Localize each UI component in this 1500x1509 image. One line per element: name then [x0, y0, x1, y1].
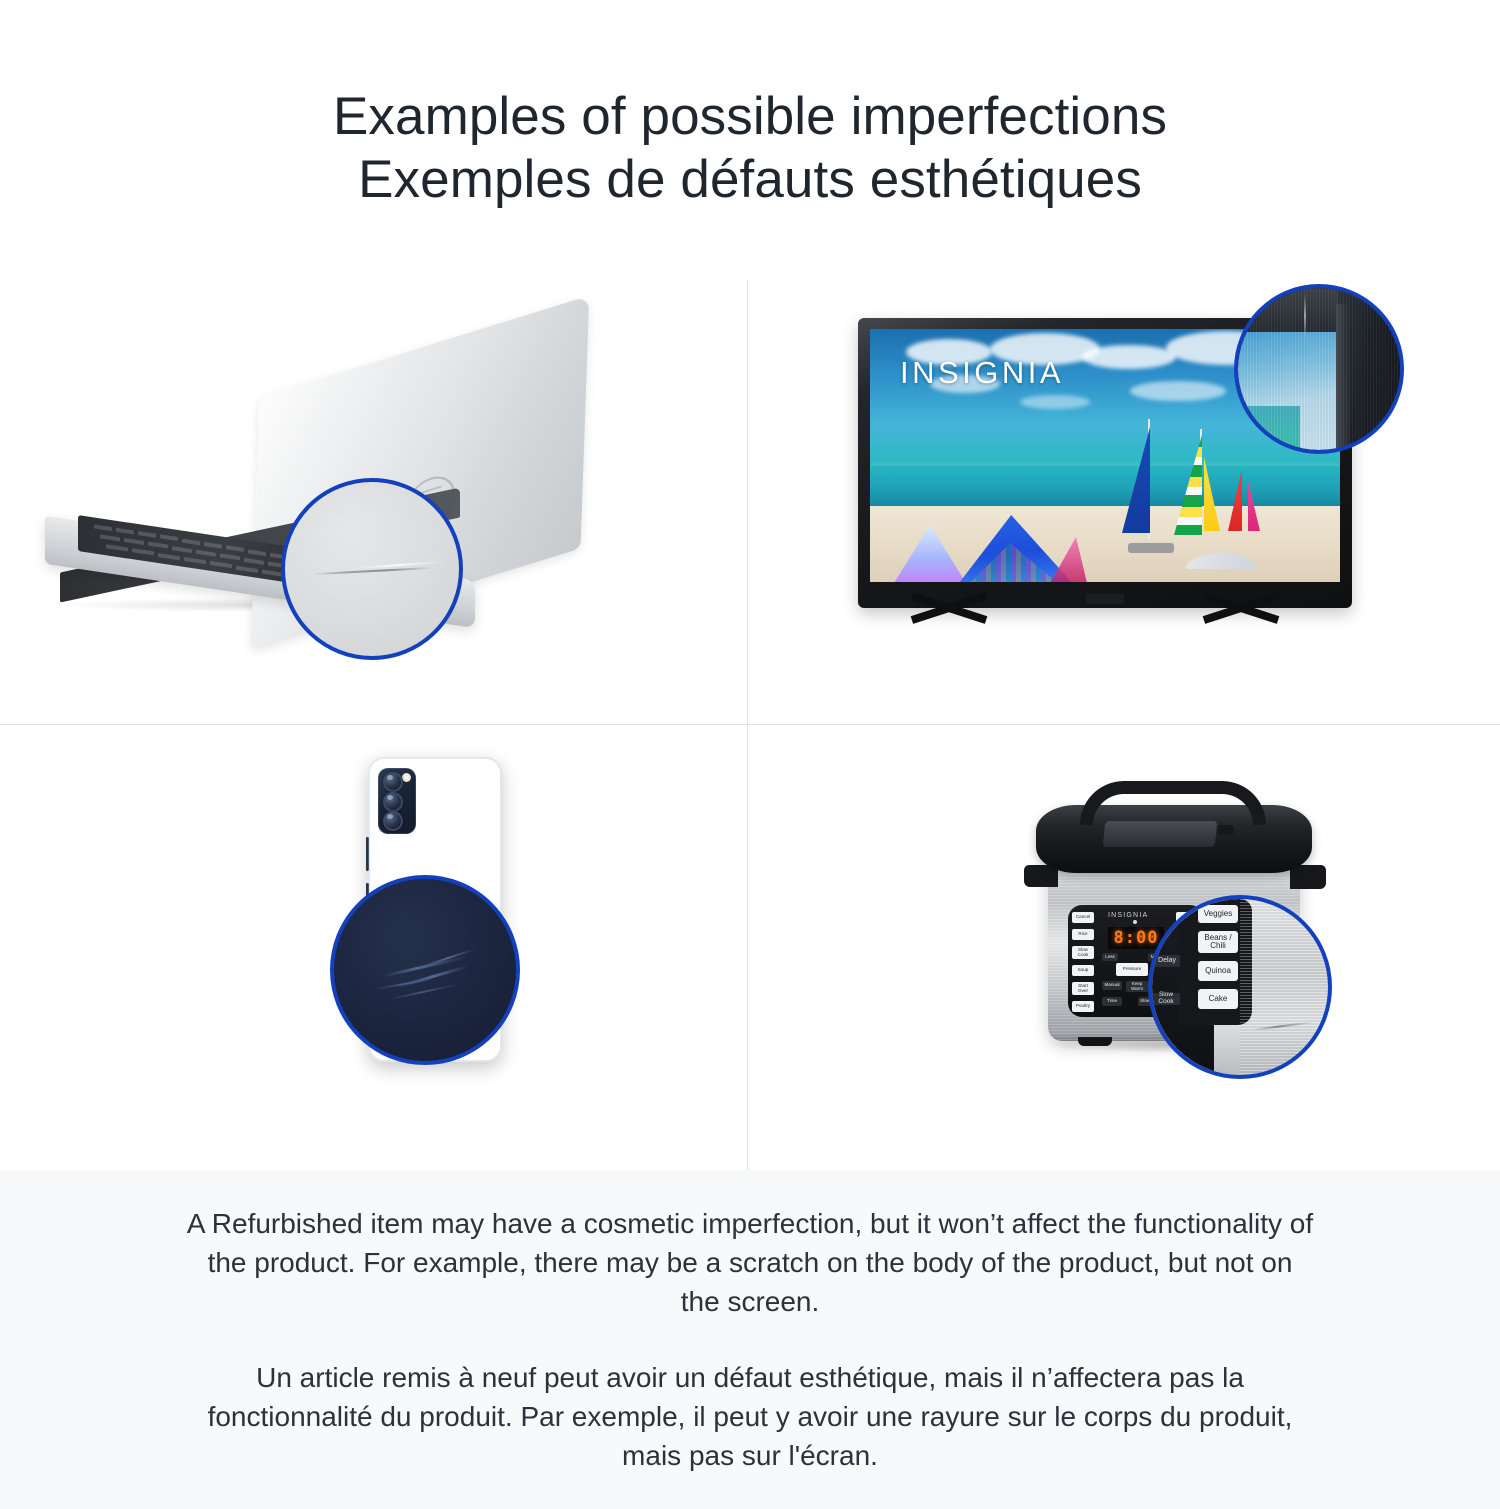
mag-pc-button-cake[interactable]: Cake [1198, 989, 1238, 1009]
pc-button-less[interactable]: Less [1102, 953, 1118, 961]
pc-button-time[interactable]: Time [1102, 997, 1122, 1006]
phone-scratch-3 [374, 978, 433, 990]
footer-disclaimer: A Refurbished item may have a cosmetic i… [0, 1170, 1500, 1509]
product-examples-grid: INSIGNIA [0, 280, 1500, 1170]
pressure-cooker-handle-right [1290, 865, 1326, 889]
tv-brand-logo: INSIGNIA [900, 355, 1064, 391]
mag-pc-button-beans-chili[interactable]: Beans / Chili [1198, 931, 1238, 953]
mag-pc-button-quinoa[interactable]: Quinoa [1198, 961, 1238, 981]
pressure-cooker-valve [1218, 825, 1234, 835]
pressure-cooker-indicator-light [1133, 920, 1137, 924]
pc-button-manual[interactable]: Manual [1102, 981, 1122, 990]
tv-magnifier-circle [1234, 284, 1404, 454]
phone-flash-icon [402, 773, 411, 782]
pressure-cooker-image: INSIGNIA 8:00 Cancel Rice Slow Cook Soup… [748, 725, 1500, 1170]
mag-pc-button-slow-cook[interactable]: Slow Cook [1152, 993, 1180, 1005]
phone-camera-lens-1 [383, 772, 403, 792]
phone-magnifier-circle [330, 875, 520, 1065]
phone-panel [0, 725, 748, 1170]
pressure-cooker-foot-left [1078, 1037, 1112, 1046]
laptop-panel [0, 280, 748, 725]
pressure-cooker-brand: INSIGNIA [1108, 912, 1148, 919]
phone-camera-module [378, 768, 416, 834]
phone-camera-lens-2 [383, 792, 403, 812]
phone-camera-lens-3 [383, 811, 403, 831]
refurbished-imperfections-infographic: Examples of possible imperfections Exemp… [0, 0, 1500, 1500]
tv-scene-sea [870, 466, 1340, 506]
pc-button-keep-warm[interactable]: Keep Warm [1126, 981, 1148, 992]
page-title-french: Exemples de défauts esthétiques [358, 149, 1142, 212]
tv-logo-bump [1086, 594, 1124, 604]
laptop-magnifier-circle [281, 478, 463, 660]
pc-button-start-over[interactable]: Start Over [1072, 982, 1094, 995]
pc-button-rice[interactable]: Rice [1072, 929, 1094, 940]
disclaimer-french: Un article remis à neuf peut avoir un dé… [185, 1358, 1315, 1476]
pc-button-slow-cook[interactable]: Slow Cook [1072, 946, 1094, 959]
tv-panel: INSIGNIA [748, 280, 1500, 725]
mag-pc-button-veggies[interactable]: Veggies [1198, 905, 1238, 923]
pc-button-pressure-cook[interactable]: Pressure [1116, 963, 1148, 976]
pressure-cooker-magnifier-circle: Veggies Beans / Chili Quinoa Cake Delay … [1148, 895, 1332, 1079]
pc-button-cancel[interactable]: Cancel [1072, 912, 1094, 923]
pressure-cooker-lid-handle [1080, 781, 1266, 825]
pc-button-poultry[interactable]: Poultry [1072, 1001, 1094, 1012]
pressure-cooker-panel: INSIGNIA 8:00 Cancel Rice Slow Cook Soup… [748, 725, 1500, 1170]
tv-scratch-mark [1304, 294, 1306, 342]
pc-button-soup[interactable]: Soup [1072, 965, 1094, 976]
laptop-scratch-mark [313, 567, 433, 575]
mag-pc-button-delay[interactable]: Delay [1154, 955, 1180, 967]
page-title-english: Examples of possible imperfections [333, 86, 1167, 149]
header: Examples of possible imperfections Exemp… [0, 0, 1500, 280]
disclaimer-english: A Refurbished item may have a cosmetic i… [185, 1204, 1315, 1322]
